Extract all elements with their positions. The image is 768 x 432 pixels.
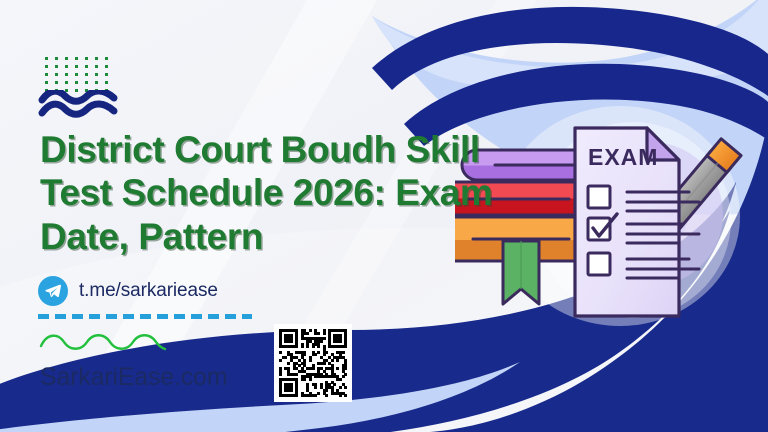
dashed-separator <box>38 314 252 319</box>
grid-dot <box>45 57 48 60</box>
paper-plane-glyph <box>44 282 62 300</box>
grid-dot <box>75 73 78 76</box>
grid-dot <box>65 57 68 60</box>
wave-mark-decoration <box>38 90 120 120</box>
grid-dot <box>75 81 78 84</box>
grid-dot <box>65 65 68 68</box>
grid-dot <box>75 65 78 68</box>
grid-dot <box>55 73 58 76</box>
grid-dot <box>75 57 78 60</box>
grid-dot <box>45 65 48 68</box>
grid-dot <box>95 73 98 76</box>
page-title: District Court Boudh Skill Test Schedule… <box>40 128 560 258</box>
grid-dot <box>55 57 58 60</box>
dot-grid-decoration <box>41 54 111 94</box>
grid-dot <box>105 73 108 76</box>
telegram-icon[interactable] <box>38 276 68 306</box>
telegram-row[interactable]: t.me/sarkariease <box>38 276 218 306</box>
grid-dot <box>105 81 108 84</box>
qr-code[interactable] <box>274 324 352 402</box>
grid-dot <box>85 65 88 68</box>
squiggle-decoration <box>38 331 168 353</box>
telegram-handle-text: t.me/sarkariease <box>79 280 218 302</box>
checkbox-unchecked <box>588 186 610 208</box>
grid-dot <box>95 81 98 84</box>
exam-heading: EXAM <box>588 144 658 170</box>
wave-line-bottom <box>42 104 114 114</box>
grid-dot <box>95 65 98 68</box>
grid-dot <box>105 57 108 60</box>
grid-dot <box>85 73 88 76</box>
qr-canvas <box>279 329 347 397</box>
checkbox-unchecked <box>588 253 610 275</box>
grid-dot <box>105 65 108 68</box>
squiggle-line <box>41 335 165 349</box>
grid-dot <box>55 81 58 84</box>
grid-dot <box>85 57 88 60</box>
grid-dot <box>45 73 48 76</box>
grid-dot <box>65 73 68 76</box>
grid-dot <box>55 65 58 68</box>
wave-line-top <box>42 91 114 101</box>
site-name: SarkariEase.com <box>40 363 227 392</box>
grid-dot <box>85 81 88 84</box>
grid-dot <box>95 57 98 60</box>
banner-canvas: District Court Boudh Skill Test Schedule… <box>0 0 768 432</box>
grid-dot <box>45 81 48 84</box>
grid-dot <box>65 81 68 84</box>
